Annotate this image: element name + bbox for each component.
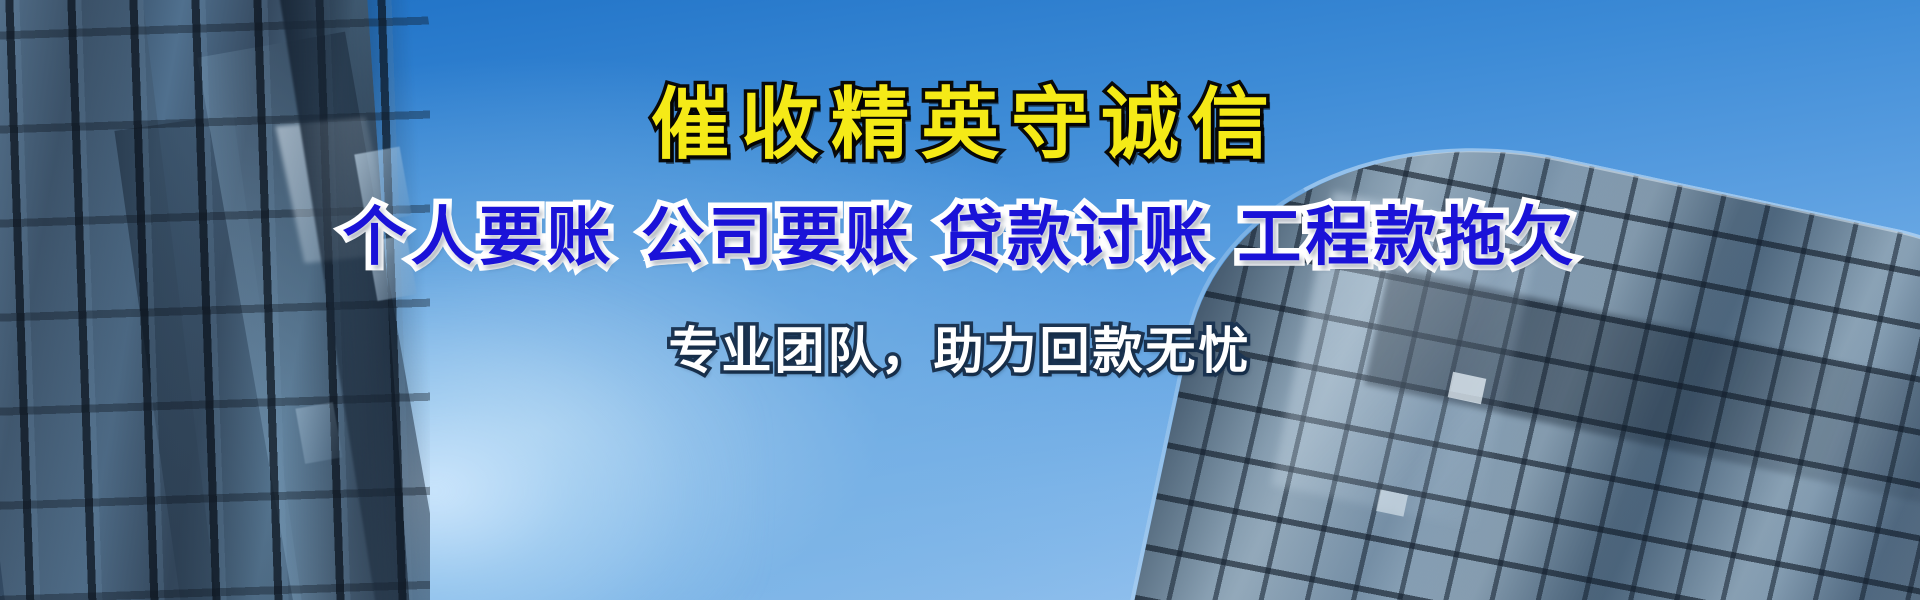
promo-banner: 催收精英守诚信 个人要账 公司要账 贷款讨账 工程款拖欠 专业团队，助力回款无忧 [0,0,1920,600]
banner-tagline: 专业团队，助力回款无忧 [669,326,1252,376]
banner-headline: 催收精英守诚信 [639,86,1281,164]
banner-service-list: 个人要账 公司要账 贷款讨账 工程款拖欠 [343,206,1578,270]
banner-text-stack: 催收精英守诚信 个人要账 公司要账 贷款讨账 工程款拖欠 专业团队，助力回款无忧 [0,0,1920,600]
